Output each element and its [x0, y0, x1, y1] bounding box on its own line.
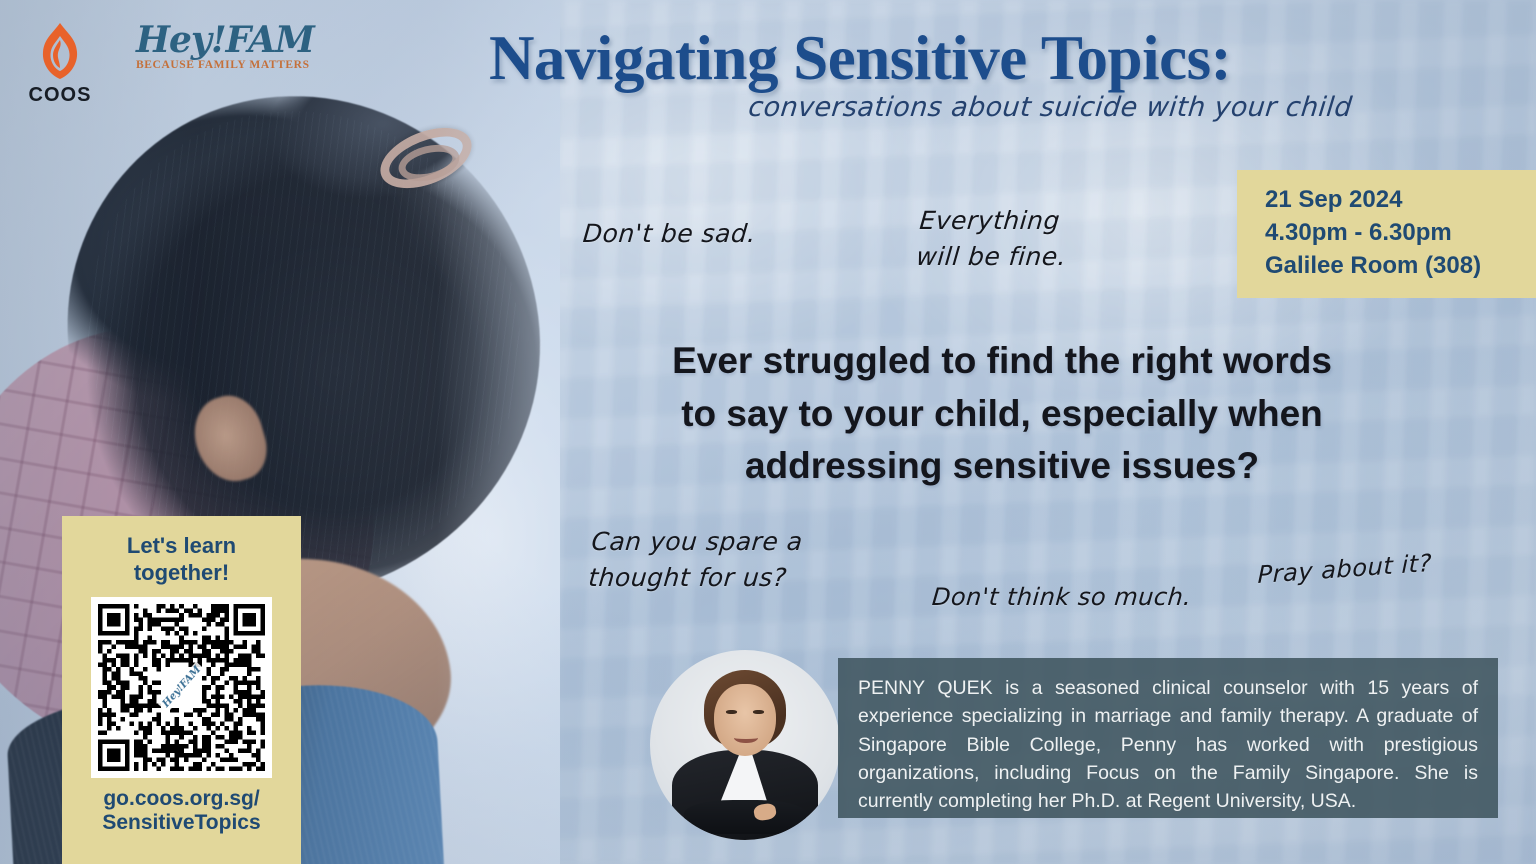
speaker-avatar: [650, 650, 840, 840]
speaker-eye-right: [753, 710, 764, 714]
qr-heading: Let's learn together!: [62, 532, 301, 587]
crossed-arms-shape: [684, 800, 806, 834]
qr-code[interactable]: Hey!FAM: [91, 597, 272, 778]
speaker-eye-left: [726, 710, 737, 714]
speaker-face-shape: [714, 684, 776, 756]
event-details-box: 21 Sep 2024 4.30pm - 6.30pm Galilee Room…: [1237, 170, 1536, 298]
registration-url[interactable]: go.coos.org.sg/ SensitiveTopics: [62, 787, 301, 837]
event-venue: Galilee Room (308): [1265, 250, 1536, 283]
speaker-bio-panel: PENNY QUEK is a seasoned clinical counse…: [838, 658, 1498, 818]
handwritten-quote: Everything will be fine.: [915, 203, 1071, 276]
coos-logo: COOS: [24, 22, 96, 107]
heyfam-tagline: Because Family Matters: [136, 59, 296, 71]
speaker-bio-text: PENNY QUEK is a seasoned clinical counse…: [858, 674, 1478, 815]
page-title: Navigating Sensitive Topics:: [360, 26, 1360, 90]
logo-row: COOS Hey!FAM Because Family Matters: [24, 22, 296, 107]
heyfam-wordmark: Hey!FAM: [136, 22, 296, 58]
event-date: 21 Sep 2024: [1265, 184, 1536, 217]
title-block: Navigating Sensitive Topics: conversatio…: [360, 26, 1360, 123]
handwritten-quote: Pray about it?: [1257, 546, 1432, 593]
handwritten-quote: Can you spare a thought for us?: [587, 524, 804, 597]
headline-question: Ever struggled to find the right words t…: [596, 335, 1408, 493]
coos-wordmark: COOS: [24, 84, 96, 107]
speaker-smile: [734, 732, 758, 743]
page-subtitle: conversations about suicide with your ch…: [358, 92, 1361, 123]
handwritten-quote: Don't think so much.: [930, 580, 1193, 615]
flame-icon: [34, 22, 86, 80]
poster-canvas: COOS Hey!FAM Because Family Matters Navi…: [0, 0, 1536, 864]
qr-registration-box[interactable]: Let's learn together! Hey!FAM go.coos.or…: [62, 516, 301, 864]
handwritten-quote: Don't be sad.: [581, 216, 757, 252]
event-time: 4.30pm - 6.30pm: [1265, 217, 1536, 250]
heyfam-logo: Hey!FAM Because Family Matters: [136, 22, 296, 71]
